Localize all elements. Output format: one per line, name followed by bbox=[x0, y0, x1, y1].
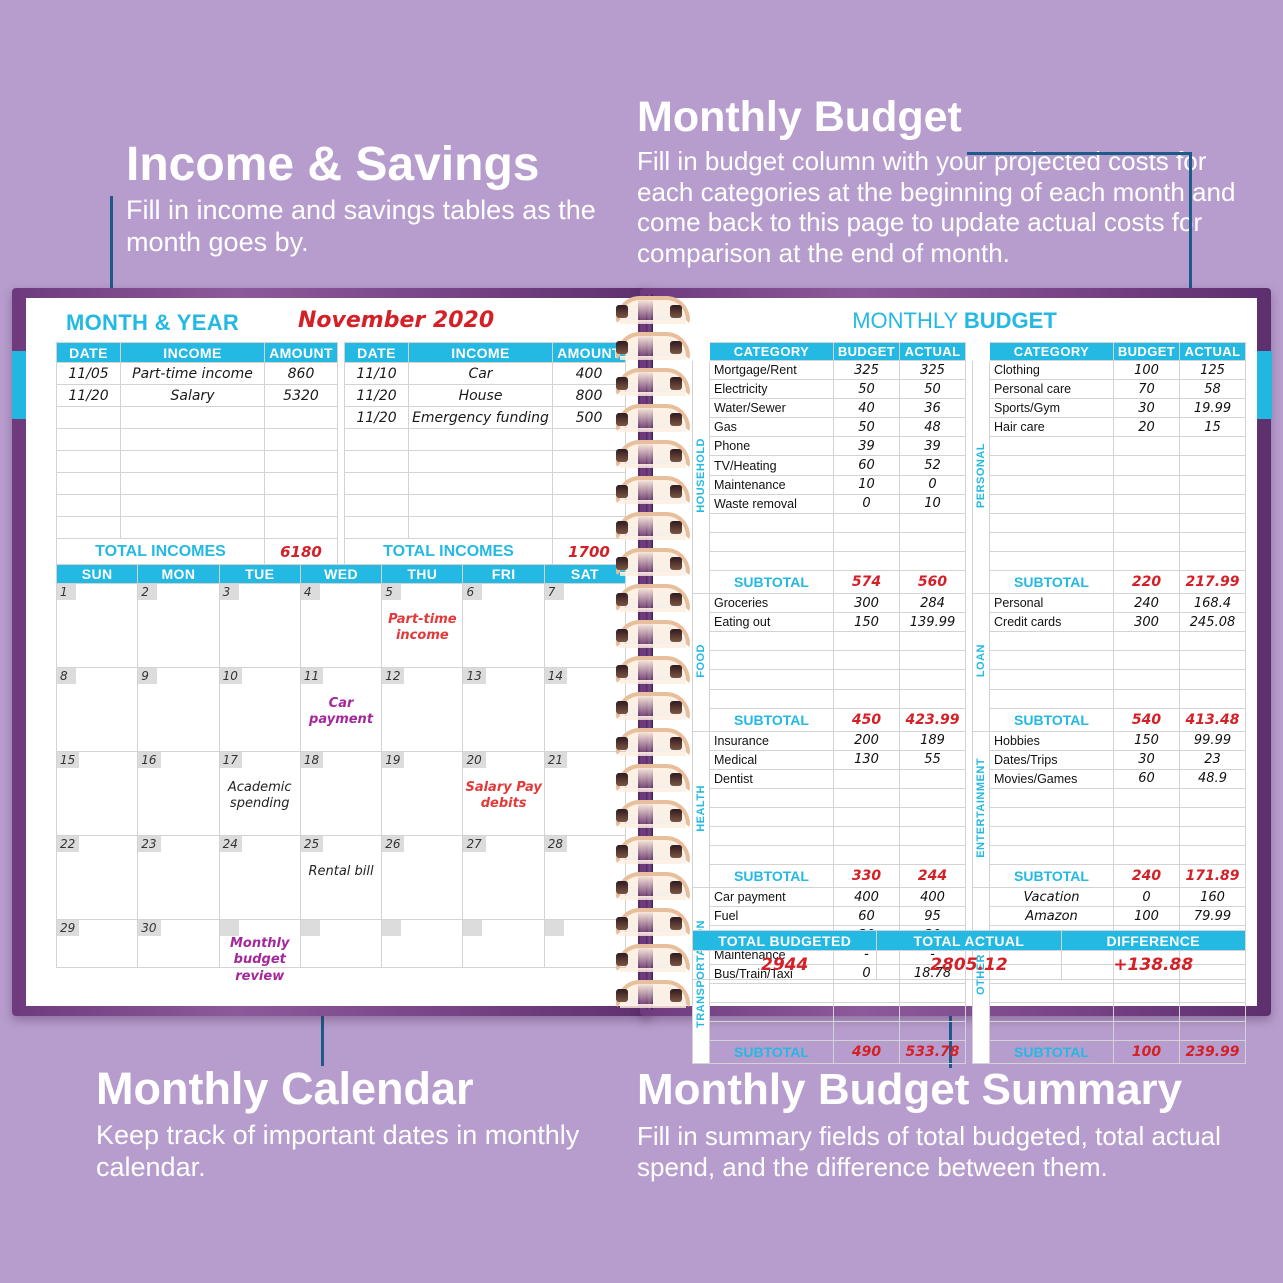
budget-category-cell[interactable] bbox=[990, 670, 1114, 689]
calendar-day-cell[interactable]: 22 bbox=[57, 836, 138, 920]
actual-amount-cell[interactable] bbox=[900, 983, 966, 1002]
budget-amount-cell[interactable] bbox=[1114, 494, 1180, 513]
summary-value-cell[interactable]: +138.88 bbox=[1061, 951, 1245, 980]
actual-amount-cell[interactable] bbox=[1180, 532, 1246, 551]
budget-category-cell[interactable]: Electricity bbox=[710, 380, 834, 399]
actual-amount-cell[interactable] bbox=[1180, 513, 1246, 532]
actual-amount-cell[interactable] bbox=[900, 551, 966, 570]
income-date-cell[interactable]: 11/05 bbox=[57, 363, 121, 385]
budget-category-cell[interactable] bbox=[990, 651, 1114, 670]
calendar-day-cell[interactable]: 25Rental bill bbox=[300, 836, 381, 920]
income-amount-cell[interactable] bbox=[265, 407, 338, 429]
budget-amount-cell[interactable]: 50 bbox=[834, 418, 900, 437]
budget-category-cell[interactable] bbox=[990, 494, 1114, 513]
budget-amount-cell[interactable]: 325 bbox=[834, 361, 900, 380]
budget-amount-cell[interactable]: 150 bbox=[834, 613, 900, 632]
calendar-day-cell[interactable]: 17Academic spending bbox=[219, 752, 300, 836]
table-row: PERSONALClothing100125 bbox=[973, 361, 1246, 380]
calendar-day-cell[interactable]: 18 bbox=[300, 752, 381, 836]
spiral-coil-icon bbox=[616, 908, 682, 930]
actual-amount-cell[interactable]: 19.99 bbox=[1180, 399, 1246, 418]
budget-amount-cell[interactable] bbox=[1114, 513, 1180, 532]
calendar-event-note[interactable]: Rental bill bbox=[301, 864, 381, 880]
calendar-day-cell[interactable]: 1 bbox=[57, 584, 138, 668]
calendar-day-cell[interactable]: 19 bbox=[382, 752, 463, 836]
budget-category-cell[interactable] bbox=[990, 983, 1114, 1002]
budget-amount-cell[interactable] bbox=[834, 807, 900, 826]
actual-amount-cell[interactable] bbox=[900, 632, 966, 651]
calendar-event-note[interactable]: Academic spending bbox=[220, 780, 300, 813]
income-date-cell[interactable] bbox=[57, 407, 121, 429]
actual-amount-cell[interactable] bbox=[1180, 983, 1246, 1002]
actual-amount-cell[interactable]: 58 bbox=[1180, 380, 1246, 399]
calendar-day-cell[interactable]: 10 bbox=[219, 668, 300, 752]
budget-category-cell[interactable] bbox=[710, 632, 834, 651]
actual-amount-cell[interactable]: 139.99 bbox=[900, 613, 966, 632]
budget-amount-cell[interactable] bbox=[1114, 1021, 1180, 1040]
income-desc-cell[interactable]: Car bbox=[409, 363, 553, 385]
subtotal-actual-value[interactable]: 533.78 bbox=[900, 1041, 966, 1064]
income-amount-cell[interactable] bbox=[553, 473, 626, 495]
budget-amount-cell[interactable] bbox=[834, 1002, 900, 1021]
income-amount-cell[interactable] bbox=[265, 473, 338, 495]
subtotal-budget-value[interactable]: 450 bbox=[834, 708, 900, 731]
budget-amount-cell[interactable]: 100 bbox=[1114, 361, 1180, 380]
total-incomes-value[interactable]: 1700 bbox=[553, 539, 626, 565]
actual-amount-cell[interactable]: 284 bbox=[900, 594, 966, 613]
subtotal-actual-value[interactable]: 217.99 bbox=[1180, 571, 1246, 594]
calendar-day-cell[interactable] bbox=[544, 920, 625, 968]
income-desc-cell[interactable]: House bbox=[409, 385, 553, 407]
income-desc-cell[interactable] bbox=[409, 473, 553, 495]
calendar-day-cell[interactable]: Monthly budget review bbox=[219, 920, 300, 968]
actual-amount-cell[interactable] bbox=[900, 689, 966, 708]
budget-amount-cell[interactable] bbox=[1114, 475, 1180, 494]
income-date-cell[interactable] bbox=[345, 473, 409, 495]
income-amount-cell[interactable]: 500 bbox=[553, 407, 626, 429]
subtotal-budget-value[interactable]: 540 bbox=[1114, 708, 1180, 731]
budget-amount-cell[interactable] bbox=[1114, 632, 1180, 651]
table-row: 11/20House800 bbox=[345, 385, 626, 407]
table-row bbox=[693, 513, 966, 532]
budget-amount-cell[interactable]: 60 bbox=[834, 907, 900, 926]
actual-amount-cell[interactable]: 10 bbox=[900, 494, 966, 513]
budget-amount-cell[interactable] bbox=[1114, 532, 1180, 551]
budget-amount-cell[interactable]: 130 bbox=[834, 750, 900, 769]
budget-category-cell[interactable]: Hair care bbox=[990, 418, 1114, 437]
budget-category-cell[interactable]: Water/Sewer bbox=[710, 399, 834, 418]
income-date-cell[interactable] bbox=[57, 429, 121, 451]
actual-amount-cell[interactable]: 160 bbox=[1180, 888, 1246, 907]
actual-amount-cell[interactable] bbox=[900, 513, 966, 532]
budget-category-cell[interactable] bbox=[710, 651, 834, 670]
income-date-cell[interactable] bbox=[345, 451, 409, 473]
budget-amount-cell[interactable]: 50 bbox=[834, 380, 900, 399]
budget-amount-cell[interactable] bbox=[834, 551, 900, 570]
budget-category-cell[interactable]: TV/Heating bbox=[710, 456, 834, 475]
actual-amount-cell[interactable] bbox=[900, 807, 966, 826]
budget-category-cell[interactable]: Amazon bbox=[990, 907, 1114, 926]
actual-amount-cell[interactable] bbox=[900, 670, 966, 689]
subtotal-actual-value[interactable]: 239.99 bbox=[1180, 1041, 1246, 1064]
budget-category-cell[interactable] bbox=[990, 513, 1114, 532]
budget-category-cell[interactable] bbox=[710, 1021, 834, 1040]
calendar-day-cell[interactable] bbox=[382, 920, 463, 968]
budget-category-cell[interactable] bbox=[710, 689, 834, 708]
budget-amount-cell[interactable] bbox=[834, 846, 900, 865]
calendar-day-cell[interactable]: 30 bbox=[138, 920, 219, 968]
budget-category-cell[interactable] bbox=[990, 788, 1114, 807]
income-amount-cell[interactable]: 860 bbox=[265, 363, 338, 385]
calendar-day-cell[interactable]: 4 bbox=[300, 584, 381, 668]
budget-category-cell[interactable] bbox=[710, 983, 834, 1002]
budget-amount-cell[interactable]: 300 bbox=[834, 594, 900, 613]
income-amount-cell[interactable]: 800 bbox=[553, 385, 626, 407]
actual-amount-cell[interactable]: 189 bbox=[900, 731, 966, 750]
spiral-coil-icon bbox=[616, 656, 682, 678]
budget-amount-cell[interactable] bbox=[1114, 846, 1180, 865]
budget-category-cell[interactable]: Credit cards bbox=[990, 613, 1114, 632]
income-date-cell[interactable]: 11/10 bbox=[345, 363, 409, 385]
income-amount-cell[interactable] bbox=[265, 517, 338, 539]
subtotal-actual-value[interactable]: 244 bbox=[900, 865, 966, 888]
income-date-cell[interactable]: 11/20 bbox=[345, 385, 409, 407]
budget-category-cell[interactable] bbox=[990, 827, 1114, 846]
budget-amount-cell[interactable] bbox=[834, 632, 900, 651]
subtotal-budget-value[interactable]: 490 bbox=[834, 1041, 900, 1064]
income-date-cell[interactable] bbox=[57, 517, 121, 539]
actual-amount-cell[interactable]: 168.4 bbox=[1180, 594, 1246, 613]
income-desc-cell[interactable]: Part-time income bbox=[121, 363, 265, 385]
budget-category-cell[interactable] bbox=[710, 532, 834, 551]
budget-category-cell[interactable] bbox=[990, 437, 1114, 456]
budget-category-cell[interactable] bbox=[990, 475, 1114, 494]
budget-amount-cell[interactable] bbox=[834, 827, 900, 846]
budget-category-cell[interactable]: Dentist bbox=[710, 769, 834, 788]
budget-category-cell[interactable]: Gas bbox=[710, 418, 834, 437]
budget-amount-cell[interactable] bbox=[834, 532, 900, 551]
budget-category-cell[interactable] bbox=[710, 827, 834, 846]
calendar-day-number bbox=[463, 920, 482, 936]
actual-amount-cell[interactable] bbox=[1180, 1002, 1246, 1021]
budget-amount-cell[interactable]: 400 bbox=[834, 888, 900, 907]
budget-category-cell[interactable] bbox=[990, 632, 1114, 651]
budget-category-cell[interactable]: Mortgage/Rent bbox=[710, 361, 834, 380]
subtotal-budget-value[interactable]: 330 bbox=[834, 865, 900, 888]
actual-amount-cell[interactable] bbox=[900, 769, 966, 788]
budget-category-cell[interactable]: Sports/Gym bbox=[990, 399, 1114, 418]
actual-amount-cell[interactable] bbox=[1180, 788, 1246, 807]
budget-category-cell[interactable]: Eating out bbox=[710, 613, 834, 632]
actual-amount-cell[interactable] bbox=[1180, 494, 1246, 513]
actual-amount-cell[interactable] bbox=[1180, 651, 1246, 670]
budget-category-cell[interactable]: Waste removal bbox=[710, 494, 834, 513]
calendar-day-cell[interactable]: 26 bbox=[382, 836, 463, 920]
budget-category-cell[interactable]: Phone bbox=[710, 437, 834, 456]
income-amount-cell[interactable] bbox=[553, 429, 626, 451]
section-name: LOAN bbox=[975, 644, 987, 677]
calendar-day-cell[interactable]: 6 bbox=[463, 584, 544, 668]
budget-amount-cell[interactable] bbox=[834, 769, 900, 788]
budget-amount-cell[interactable] bbox=[834, 513, 900, 532]
budget-amount-cell[interactable]: 0 bbox=[1114, 888, 1180, 907]
calendar-event-note[interactable]: Car payment bbox=[301, 696, 381, 729]
calendar-day-cell[interactable]: 12 bbox=[382, 668, 463, 752]
budget-category-cell[interactable]: Maintenance bbox=[710, 475, 834, 494]
budget-amount-cell[interactable] bbox=[1114, 437, 1180, 456]
budget-amount-cell[interactable] bbox=[1114, 551, 1180, 570]
income-desc-cell[interactable] bbox=[121, 407, 265, 429]
summary-value-cell[interactable]: 2944 bbox=[693, 951, 877, 980]
calendar-day-cell[interactable]: 14 bbox=[544, 668, 625, 752]
actual-amount-cell[interactable]: 50 bbox=[900, 380, 966, 399]
budget-amount-cell[interactable] bbox=[1114, 1002, 1180, 1021]
actual-amount-cell[interactable]: 48.9 bbox=[1180, 769, 1246, 788]
budget-category-cell[interactable] bbox=[990, 532, 1114, 551]
budget-amount-cell[interactable] bbox=[834, 670, 900, 689]
actual-amount-cell[interactable]: 23 bbox=[1180, 750, 1246, 769]
income-desc-cell[interactable] bbox=[121, 429, 265, 451]
budget-category-cell[interactable]: Vacation bbox=[990, 888, 1114, 907]
actual-amount-cell[interactable] bbox=[1180, 689, 1246, 708]
actual-amount-cell[interactable]: 325 bbox=[900, 361, 966, 380]
calendar-event-note[interactable]: Monthly budget review bbox=[220, 936, 300, 985]
calendar-day-number: 26 bbox=[382, 836, 404, 852]
income-amount-cell[interactable] bbox=[553, 451, 626, 473]
budget-amount-cell[interactable]: 39 bbox=[834, 437, 900, 456]
income-amount-cell[interactable]: 5320 bbox=[265, 385, 338, 407]
income-desc-cell[interactable] bbox=[409, 429, 553, 451]
table-header-row: CATEGORY BUDGET ACTUAL bbox=[973, 343, 1246, 361]
calendar-day-cell[interactable]: 13 bbox=[463, 668, 544, 752]
budget-category-cell[interactable]: Groceries bbox=[710, 594, 834, 613]
actual-amount-cell[interactable] bbox=[1180, 807, 1246, 826]
summary-value-cell[interactable]: 2805.12 bbox=[877, 951, 1061, 980]
actual-amount-cell[interactable]: 0 bbox=[900, 475, 966, 494]
actual-amount-cell[interactable]: 48 bbox=[900, 418, 966, 437]
calendar-day-cell[interactable]: 9 bbox=[138, 668, 219, 752]
subtotal-budget-value[interactable]: 240 bbox=[1114, 865, 1180, 888]
budget-category-cell[interactable] bbox=[710, 670, 834, 689]
budget-category-cell[interactable] bbox=[990, 807, 1114, 826]
calendar-day-cell[interactable]: 23 bbox=[138, 836, 219, 920]
budget-category-cell[interactable] bbox=[710, 551, 834, 570]
calendar-day-cell[interactable]: 27 bbox=[463, 836, 544, 920]
budget-amount-cell[interactable]: 20 bbox=[1114, 418, 1180, 437]
budget-category-cell[interactable] bbox=[710, 1002, 834, 1021]
income-date-cell[interactable]: 11/20 bbox=[57, 385, 121, 407]
book-spine bbox=[646, 294, 653, 1010]
budget-amount-cell[interactable]: 0 bbox=[834, 494, 900, 513]
budget-amount-cell[interactable] bbox=[834, 788, 900, 807]
page-title-monthly-budget: MONTHLY BUDGET bbox=[652, 308, 1257, 334]
income-desc-cell[interactable] bbox=[121, 451, 265, 473]
budget-category-cell[interactable] bbox=[990, 551, 1114, 570]
budget-category-cell[interactable] bbox=[710, 807, 834, 826]
actual-amount-cell[interactable]: 55 bbox=[900, 750, 966, 769]
calendar-day-cell[interactable]: 29 bbox=[57, 920, 138, 968]
income-desc-cell[interactable]: Emergency funding bbox=[409, 407, 553, 429]
actual-amount-cell[interactable]: 95 bbox=[900, 907, 966, 926]
income-date-cell[interactable] bbox=[57, 473, 121, 495]
income-date-cell[interactable] bbox=[57, 495, 121, 517]
actual-amount-cell[interactable]: 15 bbox=[1180, 418, 1246, 437]
actual-amount-cell[interactable] bbox=[1180, 827, 1246, 846]
actual-amount-cell[interactable] bbox=[1180, 551, 1246, 570]
income-date-cell[interactable] bbox=[345, 495, 409, 517]
calendar-event-note[interactable]: Part-time income bbox=[382, 612, 462, 645]
budget-amount-cell[interactable] bbox=[1114, 788, 1180, 807]
budget-category-cell[interactable]: Insurance bbox=[710, 731, 834, 750]
calendar-day-cell[interactable]: 21 bbox=[544, 752, 625, 836]
actual-amount-cell[interactable] bbox=[900, 827, 966, 846]
income-amount-cell[interactable] bbox=[265, 451, 338, 473]
budget-category-cell[interactable]: Hobbies bbox=[990, 731, 1114, 750]
calendar-day-cell[interactable]: 16 bbox=[138, 752, 219, 836]
budget-category-cell[interactable]: Personal bbox=[990, 594, 1114, 613]
budget-amount-cell[interactable] bbox=[1114, 670, 1180, 689]
calendar-day-cell[interactable]: 20Salary Pay debits bbox=[463, 752, 544, 836]
actual-amount-cell[interactable]: 245.08 bbox=[1180, 613, 1246, 632]
budget-amount-cell[interactable] bbox=[1114, 651, 1180, 670]
budget-category-cell[interactable]: Medical bbox=[710, 750, 834, 769]
income-amount-cell[interactable] bbox=[553, 517, 626, 539]
calendar-day-cell[interactable]: 24 bbox=[219, 836, 300, 920]
income-desc-cell[interactable] bbox=[121, 495, 265, 517]
budget-category-cell[interactable] bbox=[990, 1002, 1114, 1021]
budget-category-cell[interactable] bbox=[710, 513, 834, 532]
budget-category-cell[interactable]: Car payment bbox=[710, 888, 834, 907]
income-amount-cell[interactable] bbox=[265, 429, 338, 451]
budget-amount-cell[interactable]: 100 bbox=[1114, 907, 1180, 926]
subtotal-budget-value[interactable]: 574 bbox=[834, 571, 900, 594]
actual-amount-cell[interactable]: 99.99 bbox=[1180, 731, 1246, 750]
budget-category-cell[interactable]: Dates/Trips bbox=[990, 750, 1114, 769]
budget-category-cell[interactable] bbox=[990, 456, 1114, 475]
income-desc-cell[interactable] bbox=[409, 495, 553, 517]
subtotal-row: SUBTOTAL574560 bbox=[693, 571, 966, 594]
total-incomes-value[interactable]: 6180 bbox=[265, 539, 338, 565]
actual-amount-cell[interactable] bbox=[900, 788, 966, 807]
calendar-day-cell[interactable]: 5Part-time income bbox=[382, 584, 463, 668]
income-date-cell[interactable]: 11/20 bbox=[345, 407, 409, 429]
budget-category-cell[interactable] bbox=[990, 1021, 1114, 1040]
budget-amount-cell[interactable] bbox=[1114, 827, 1180, 846]
actual-amount-cell[interactable]: 79.99 bbox=[1180, 907, 1246, 926]
subtotal-actual-value[interactable]: 413.48 bbox=[1180, 708, 1246, 731]
budget-amount-cell[interactable]: 30 bbox=[1114, 750, 1180, 769]
budget-amount-cell[interactable]: 40 bbox=[834, 399, 900, 418]
budget-amount-cell[interactable]: 60 bbox=[834, 456, 900, 475]
actual-amount-cell[interactable] bbox=[900, 846, 966, 865]
budget-amount-cell[interactable]: 60 bbox=[1114, 769, 1180, 788]
budget-category-cell[interactable]: Clothing bbox=[990, 361, 1114, 380]
actual-amount-cell[interactable] bbox=[1180, 456, 1246, 475]
calendar-day-number: 19 bbox=[382, 752, 404, 768]
budget-amount-cell[interactable]: 200 bbox=[834, 731, 900, 750]
calendar-day-cell[interactable]: 8 bbox=[57, 668, 138, 752]
actual-amount-cell[interactable] bbox=[1180, 846, 1246, 865]
actual-amount-cell[interactable] bbox=[1180, 437, 1246, 456]
calendar-day-cell[interactable]: 2 bbox=[138, 584, 219, 668]
actual-amount-cell[interactable] bbox=[1180, 670, 1246, 689]
calendar-day-cell[interactable]: 28 bbox=[544, 836, 625, 920]
subtotal-actual-value[interactable]: 423.99 bbox=[900, 708, 966, 731]
calendar-day-cell[interactable] bbox=[300, 920, 381, 968]
budget-amount-cell[interactable]: 240 bbox=[1114, 594, 1180, 613]
budget-amount-cell[interactable]: 300 bbox=[1114, 613, 1180, 632]
actual-amount-cell[interactable]: 52 bbox=[900, 456, 966, 475]
calendar-day-cell[interactable]: 7 bbox=[544, 584, 625, 668]
actual-amount-cell[interactable] bbox=[900, 1021, 966, 1040]
actual-amount-cell[interactable] bbox=[1180, 1021, 1246, 1040]
income-amount-cell[interactable] bbox=[265, 495, 338, 517]
subtotal-actual-value[interactable]: 171.89 bbox=[1180, 865, 1246, 888]
subtotal-budget-value[interactable]: 220 bbox=[1114, 571, 1180, 594]
budget-category-cell[interactable] bbox=[710, 846, 834, 865]
table-row bbox=[973, 513, 1246, 532]
actual-amount-cell[interactable] bbox=[900, 532, 966, 551]
budget-amount-cell[interactable]: 150 bbox=[1114, 731, 1180, 750]
budget-category-cell[interactable] bbox=[990, 689, 1114, 708]
income-date-cell[interactable] bbox=[57, 451, 121, 473]
actual-amount-cell[interactable]: 36 bbox=[900, 399, 966, 418]
income-desc-cell[interactable] bbox=[121, 473, 265, 495]
budget-amount-cell[interactable] bbox=[1114, 807, 1180, 826]
subtotal-label: SUBTOTAL bbox=[710, 571, 834, 594]
income-desc-cell[interactable] bbox=[409, 517, 553, 539]
actual-amount-cell[interactable] bbox=[900, 1002, 966, 1021]
subtotal-actual-value[interactable]: 560 bbox=[900, 571, 966, 594]
calendar-day-cell[interactable]: 15 bbox=[57, 752, 138, 836]
income-amount-cell[interactable]: 400 bbox=[553, 363, 626, 385]
budget-amount-cell[interactable] bbox=[834, 689, 900, 708]
income-date-cell[interactable] bbox=[345, 517, 409, 539]
budget-amount-cell[interactable] bbox=[1114, 983, 1180, 1002]
income-date-cell[interactable] bbox=[345, 429, 409, 451]
budget-amount-cell[interactable]: 30 bbox=[1114, 399, 1180, 418]
calendar-day-cell[interactable]: 3 bbox=[219, 584, 300, 668]
budget-amount-cell[interactable] bbox=[1114, 689, 1180, 708]
actual-amount-cell[interactable]: 39 bbox=[900, 437, 966, 456]
budget-amount-cell[interactable]: 10 bbox=[834, 475, 900, 494]
actual-amount-cell[interactable] bbox=[900, 651, 966, 670]
calendar-day-cell[interactable] bbox=[463, 920, 544, 968]
budget-amount-cell[interactable]: 70 bbox=[1114, 380, 1180, 399]
budget-category-cell[interactable]: Personal care bbox=[990, 380, 1114, 399]
budget-amount-cell[interactable] bbox=[834, 1021, 900, 1040]
income-desc-cell[interactable] bbox=[409, 451, 553, 473]
budget-category-cell[interactable]: Movies/Games bbox=[990, 769, 1114, 788]
actual-amount-cell[interactable] bbox=[1180, 475, 1246, 494]
budget-amount-cell[interactable] bbox=[834, 983, 900, 1002]
calendar-day-cell[interactable]: 11Car payment bbox=[300, 668, 381, 752]
income-desc-cell[interactable]: Salary bbox=[121, 385, 265, 407]
budget-category-cell[interactable]: Fuel bbox=[710, 907, 834, 926]
budget-amount-cell[interactable] bbox=[834, 651, 900, 670]
calendar-event-note[interactable]: Salary Pay debits bbox=[463, 780, 543, 813]
actual-amount-cell[interactable]: 400 bbox=[900, 888, 966, 907]
table-row: HOUSEHOLDMortgage/Rent325325 bbox=[693, 361, 966, 380]
income-desc-cell[interactable] bbox=[121, 517, 265, 539]
subtotal-budget-value[interactable]: 100 bbox=[1114, 1041, 1180, 1064]
budget-category-cell[interactable] bbox=[710, 788, 834, 807]
actual-amount-cell[interactable] bbox=[1180, 632, 1246, 651]
income-amount-cell[interactable] bbox=[553, 495, 626, 517]
budget-category-cell[interactable] bbox=[990, 846, 1114, 865]
actual-amount-cell[interactable]: 125 bbox=[1180, 361, 1246, 380]
budget-amount-cell[interactable] bbox=[1114, 456, 1180, 475]
